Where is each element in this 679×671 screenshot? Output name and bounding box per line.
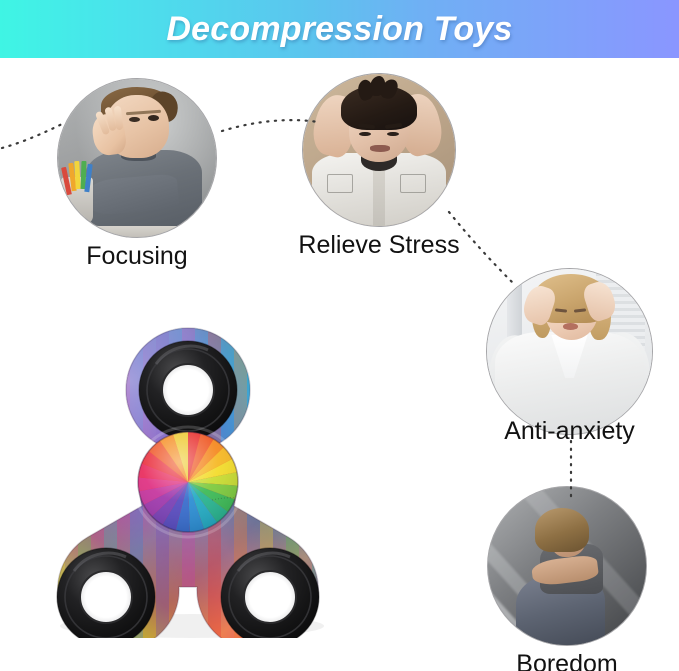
photo-boredom — [488, 487, 646, 645]
infographic-page: Decompression Toys — [0, 0, 679, 671]
spinner-bearing-right — [221, 548, 319, 638]
benefit-boredom[interactable]: Boredom — [488, 487, 646, 645]
photo-anti-anxiety — [487, 269, 652, 434]
spinner-bearing-left — [57, 548, 155, 638]
page-title: Decompression Toys — [166, 10, 512, 49]
benefit-anti-anxiety[interactable]: Anti-anxiety — [487, 269, 652, 434]
header-banner: Decompression Toys — [0, 0, 679, 58]
caption-relieve-stress: Relieve Stress — [298, 231, 459, 260]
product-fidget-spinner[interactable] — [26, 314, 350, 638]
photo-focusing — [58, 79, 216, 237]
benefit-relieve-stress[interactable]: Relieve Stress — [303, 74, 455, 226]
caption-anti-anxiety: Anti-anxiety — [504, 417, 635, 446]
connector-edge-to-focusing — [2, 124, 62, 148]
caption-focusing: Focusing — [86, 242, 187, 271]
benefit-focusing[interactable]: Focusing — [58, 79, 216, 237]
photo-relieve-stress — [303, 74, 455, 226]
spinner-bearing-top — [139, 341, 237, 439]
spinner-graphic — [26, 314, 350, 638]
caption-boredom: Boredom — [516, 650, 617, 671]
